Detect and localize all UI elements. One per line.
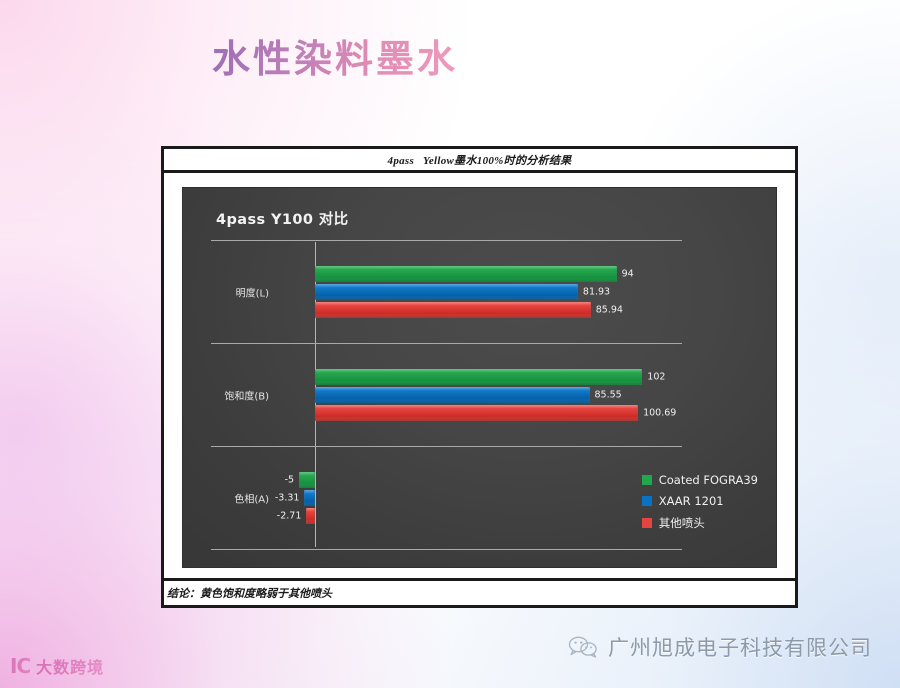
chart-bar-value: 81.93 bbox=[583, 286, 610, 297]
chart-bar-value: 85.55 bbox=[595, 389, 622, 400]
watermark-logo-icon: IC bbox=[10, 654, 30, 678]
chart-gridline bbox=[211, 446, 682, 447]
watermark-label: 大数跨境 bbox=[36, 654, 104, 678]
chart-category-label: 饱和度(B) bbox=[211, 387, 269, 402]
chart-bar-value: 102 bbox=[647, 371, 665, 382]
company-name: 广州旭成电子科技有限公司 bbox=[608, 632, 872, 662]
chart-bar bbox=[315, 266, 617, 282]
chart-bar bbox=[299, 472, 315, 488]
report-header-title: 4pass Yellow墨水100%时的分析结果 bbox=[388, 152, 572, 168]
chart-bar-value: -3.31 bbox=[275, 492, 300, 503]
company-footer: 广州旭成电子科技有限公司 bbox=[568, 632, 872, 662]
legend-item[interactable]: 其他喷头 bbox=[642, 515, 758, 531]
legend-label: XAAR 1201 bbox=[659, 494, 724, 508]
bar-chart: 4pass Y100 对比 明度(L)9481.9385.94饱和度(B)102… bbox=[182, 187, 777, 568]
chart-bar-value: 85.94 bbox=[596, 304, 623, 315]
legend-label: Coated FOGRA39 bbox=[659, 473, 758, 487]
chart-bar-value: 94 bbox=[622, 268, 634, 279]
legend-label: 其他喷头 bbox=[659, 515, 705, 531]
chart-bar bbox=[315, 405, 638, 421]
page-title: 水性染料墨水 bbox=[212, 38, 458, 82]
legend-item[interactable]: XAAR 1201 bbox=[642, 494, 758, 508]
chart-bar bbox=[315, 302, 591, 318]
chart-bar bbox=[306, 508, 315, 524]
wechat-icon bbox=[568, 636, 598, 658]
chart-bar bbox=[315, 387, 589, 403]
chart-title: 4pass Y100 对比 bbox=[216, 208, 349, 229]
legend-item[interactable]: Coated FOGRA39 bbox=[642, 473, 758, 487]
legend-swatch-icon bbox=[642, 518, 652, 528]
chart-bar bbox=[315, 284, 578, 300]
watermark: IC 大数跨境 bbox=[10, 654, 104, 678]
chart-bar bbox=[304, 490, 315, 506]
chart-category-label: 明度(L) bbox=[211, 284, 269, 299]
legend-swatch-icon bbox=[642, 475, 652, 485]
report-header: 4pass Yellow墨水100%时的分析结果 bbox=[164, 149, 795, 173]
chart-bar-value: -5 bbox=[285, 474, 294, 485]
chart-bar-value: 100.69 bbox=[643, 407, 676, 418]
chart-gridline bbox=[211, 549, 682, 550]
report-panel: 4pass Yellow墨水100%时的分析结果 4pass Y100 对比 明… bbox=[161, 146, 798, 608]
chart-bar-value: -2.71 bbox=[277, 510, 302, 521]
chart-legend: Coated FOGRA39XAAR 1201其他喷头 bbox=[642, 473, 758, 531]
chart-gridline bbox=[211, 343, 682, 344]
report-body: 4pass Y100 对比 明度(L)9481.9385.94饱和度(B)102… bbox=[164, 173, 795, 578]
report-footer: 结论：黄色饱和度略弱于其他喷头 bbox=[164, 578, 795, 605]
legend-swatch-icon bbox=[642, 496, 652, 506]
conclusion-text: 结论：黄色饱和度略弱于其他喷头 bbox=[164, 585, 332, 601]
chart-bar bbox=[315, 369, 642, 385]
chart-category-label: 色相(A) bbox=[211, 490, 269, 505]
chart-gridline bbox=[211, 240, 682, 241]
